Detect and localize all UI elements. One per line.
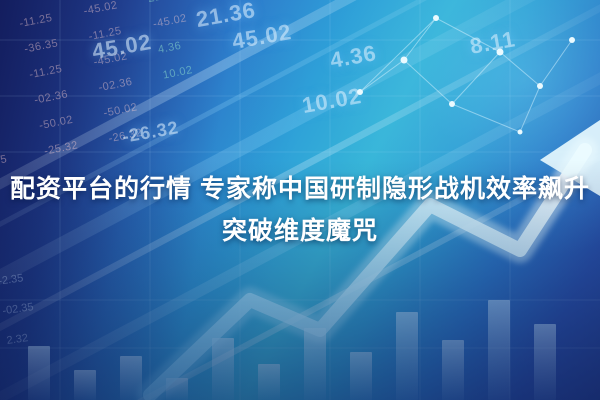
headline-line-1: 配资平台的行情 专家称中国研制隐形战机效率飙升 bbox=[6, 168, 594, 210]
headline-line-2: 突破维度魔咒 bbox=[6, 210, 594, 252]
banner-image: -2.35 -11.25 -45.02 21.36 -2.35 -36.35 -… bbox=[0, 0, 600, 400]
headline: 配资平台的行情 专家称中国研制隐形战机效率飙升 突破维度魔咒 bbox=[0, 168, 600, 252]
